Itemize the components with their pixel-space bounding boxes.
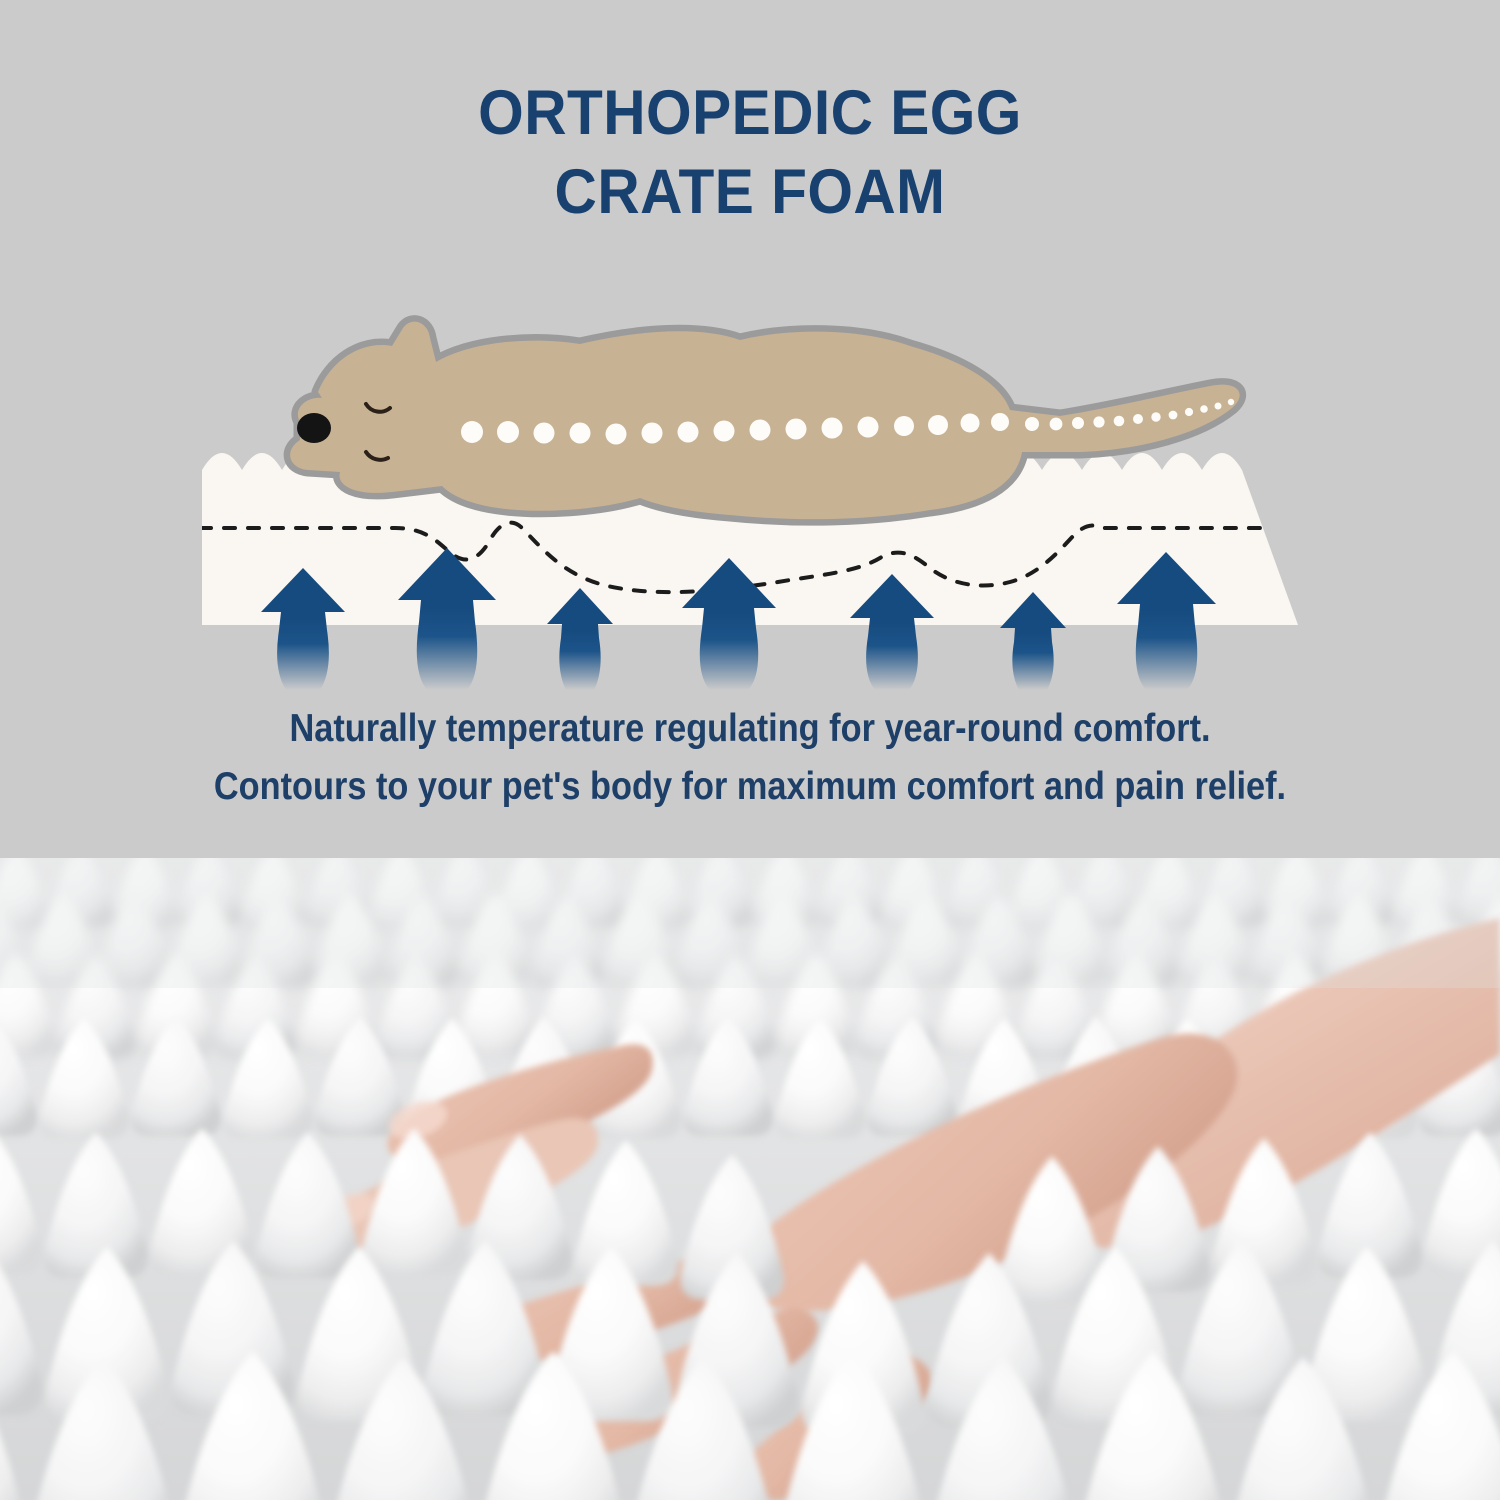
- foam-near-rows: [0, 1128, 1500, 1500]
- hand-pressing-egg-crate-foam: [0, 858, 1500, 1500]
- orthopedic-foam-diagram: [0, 300, 1500, 690]
- page-title: ORTHOPEDIC EGG CRATE FOAM: [53, 74, 1448, 232]
- infographic-top-panel: ORTHOPEDIC EGG CRATE FOAM: [0, 0, 1500, 858]
- foam-photo-panel: [0, 858, 1500, 1500]
- benefit-line-1: Naturally temperature regulating for yea…: [90, 700, 1410, 758]
- photo-top-haze: [0, 858, 1500, 988]
- dog-nose-icon: [297, 413, 331, 443]
- benefit-copy: Naturally temperature regulating for yea…: [90, 700, 1410, 816]
- benefit-line-2: Contours to your pet's body for maximum …: [90, 758, 1410, 816]
